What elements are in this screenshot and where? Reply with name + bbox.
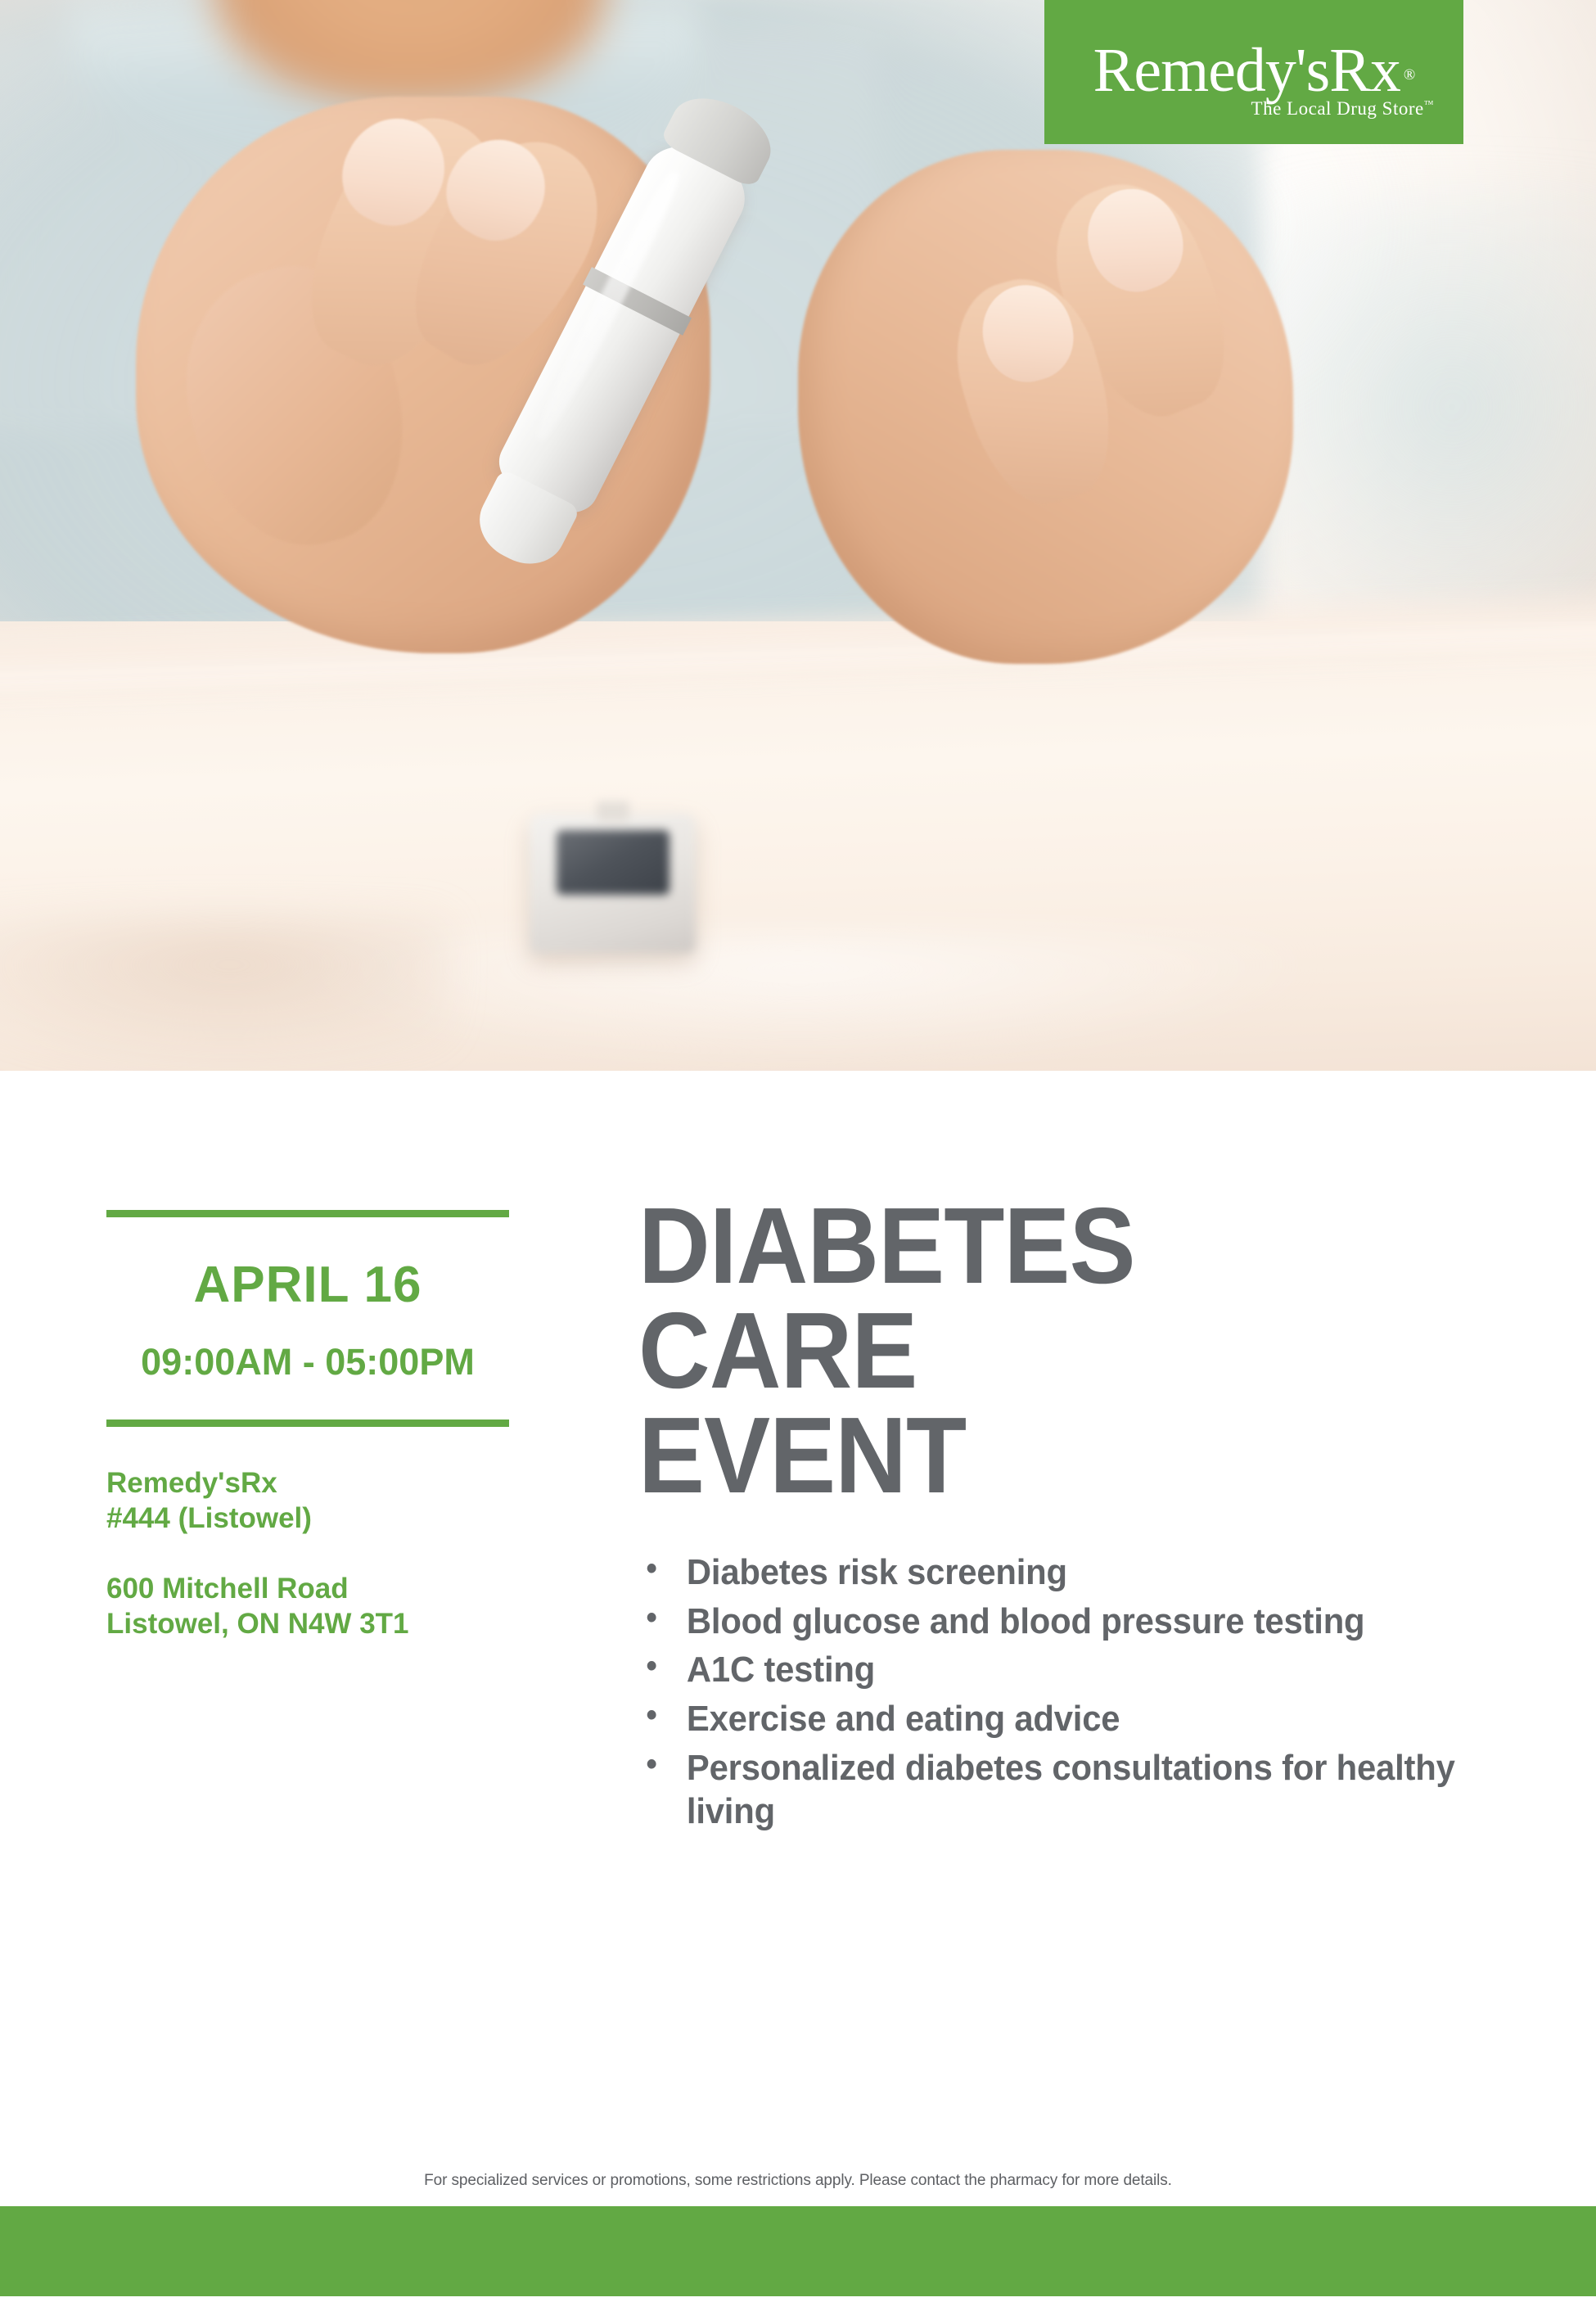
divider-bottom xyxy=(106,1420,509,1427)
page-title-line-3: EVENT xyxy=(638,1403,1481,1508)
poster-content: APRIL 16 09:00AM - 05:00PM Remedy'sRx #4… xyxy=(0,1071,1596,2206)
page-title-line-1: DIABETES xyxy=(638,1194,1481,1298)
store-name-line-2: #444 (Listowel) xyxy=(106,1501,509,1537)
page-title-line-2: CARE xyxy=(638,1298,1481,1403)
glucose-meter xyxy=(530,814,696,953)
store-address-line-1: 600 Mitchell Road xyxy=(106,1572,509,1607)
logo-wordmark-label: Remedy'sRx xyxy=(1093,36,1400,105)
logo-wordmark-text: Remedy'sRx® xyxy=(1093,39,1415,102)
event-date: APRIL 16 xyxy=(106,1260,509,1311)
list-item: Personalized diabetes consultations for … xyxy=(638,1746,1509,1834)
list-item: Blood glucose and blood pressure testing xyxy=(638,1600,1509,1644)
photo-background-right-tint xyxy=(1245,192,1596,621)
registered-trademark-icon: ® xyxy=(1404,66,1414,84)
glucose-meter-screen xyxy=(557,830,670,894)
event-main-column: DIABETES CARE EVENT Diabetes risk screen… xyxy=(638,1194,1555,1839)
disclaimer-text: For specialized services or promotions, … xyxy=(0,2172,1596,2190)
event-time: 09:00AM - 05:00PM xyxy=(106,1343,509,1380)
glucose-test-strip xyxy=(597,801,630,821)
page-title: DIABETES CARE EVENT xyxy=(638,1194,1481,1508)
benefits-list: Diabetes risk screening Blood glucose an… xyxy=(638,1550,1555,1834)
list-item: Exercise and eating advice xyxy=(638,1697,1509,1741)
event-info-column: APRIL 16 09:00AM - 05:00PM Remedy'sRx #4… xyxy=(106,1210,509,1642)
divider-top xyxy=(106,1210,509,1217)
store-name: Remedy'sRx #444 (Listowel) xyxy=(106,1466,509,1536)
store-address-line-2: Listowel, ON N4W 3T1 xyxy=(106,1607,509,1642)
list-item: Diabetes risk screening xyxy=(638,1550,1509,1595)
store-name-line-1: Remedy'sRx xyxy=(106,1466,509,1501)
hero-photo: Remedy'sRx® The Local Drug Store™ xyxy=(0,0,1596,1071)
table-shadow xyxy=(0,918,447,1071)
footer-brand-bar xyxy=(0,2206,1596,2296)
store-address: 600 Mitchell Road Listowel, ON N4W 3T1 xyxy=(106,1572,509,1641)
list-item: A1C testing xyxy=(638,1648,1509,1692)
trademark-icon: ™ xyxy=(1424,98,1434,110)
brand-logo: Remedy'sRx® The Local Drug Store™ xyxy=(1044,0,1463,144)
